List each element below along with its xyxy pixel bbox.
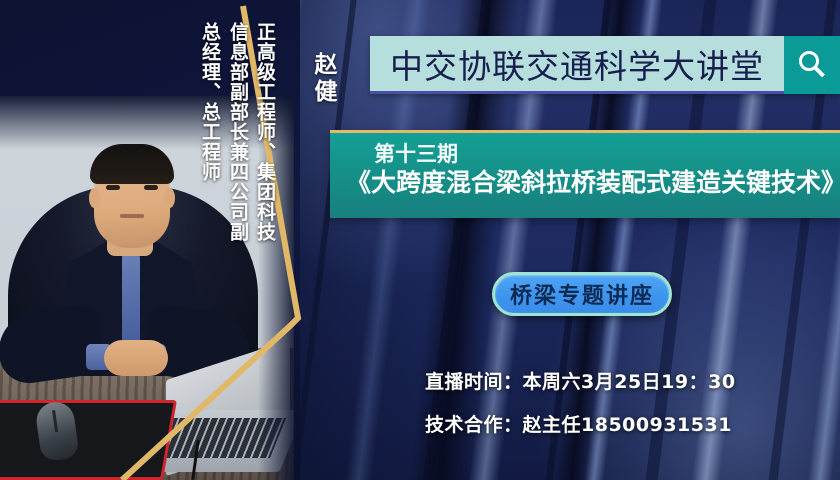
- broadcast-time: 直播时间：本周六3月25日19：30: [425, 367, 736, 394]
- program-title-plate: 中交协联交通科学大讲堂: [370, 36, 784, 94]
- program-title-text: 中交协联交通科学大讲堂: [390, 40, 764, 88]
- episode-number: 第十三期: [374, 141, 826, 167]
- webinar-poster: 赵健 正高级工程师、集团科技 信息部副部长兼四公司副 总经理、总工程师 中交协联…: [0, 0, 840, 480]
- topic-category-label: 桥梁专题讲座: [510, 278, 654, 310]
- speaker-credential-2: 信息部副部长兼四公司副: [227, 22, 248, 242]
- contact-info: 技术合作：赵主任18500931531: [425, 410, 732, 437]
- speaker-credential-3: 总经理、总工程师: [199, 22, 220, 182]
- speaker-credential-1: 正高级工程师、集团科技: [254, 22, 275, 242]
- program-title-bar: 中交协联交通科学大讲堂: [370, 36, 840, 94]
- photo-vignette: [0, 96, 294, 480]
- episode-banner: 第十三期 《大跨度混合梁斜拉桥装配式建造关键技术》: [330, 130, 840, 218]
- search-icon[interactable]: [784, 36, 840, 94]
- episode-topic: 《大跨度混合梁斜拉桥装配式建造关键技术》: [346, 167, 826, 200]
- speaker-name: 赵健: [310, 52, 335, 106]
- speaker-photo: [0, 96, 294, 480]
- topic-category-button[interactable]: 桥梁专题讲座: [492, 272, 672, 316]
